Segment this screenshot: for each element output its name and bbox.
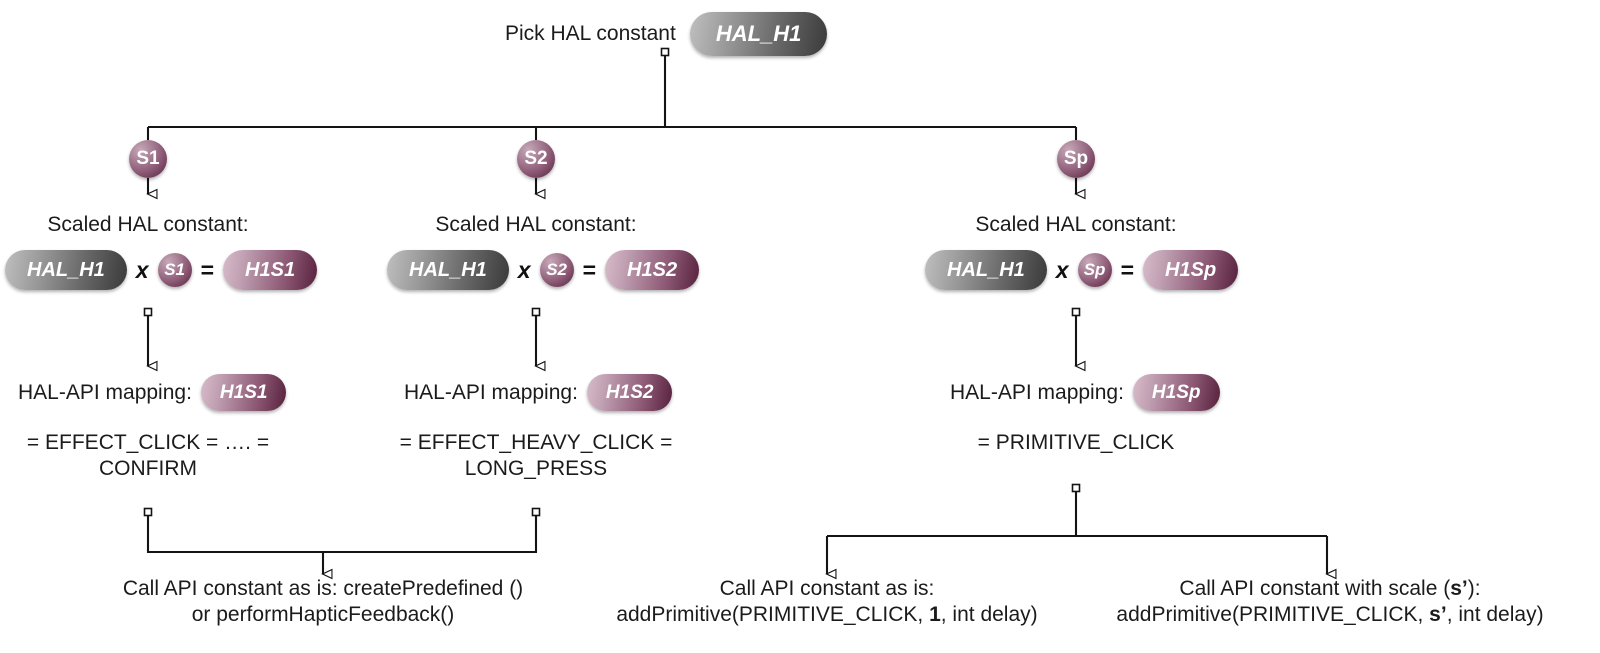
mapping-row-sp: HAL-API mapping: H1Sp xyxy=(950,374,1220,411)
mapping-equation-s2: = EFFECT_HEAVY_CLICK = LONG_PRESS xyxy=(388,430,684,482)
diagram-canvas: Pick HAL constant HAL_H1 S1 S2 Sp Scaled… xyxy=(0,0,1600,653)
multiply-op-s1: x xyxy=(136,257,149,284)
scaled-result-pill-sp[interactable]: H1Sp xyxy=(1143,250,1238,290)
wire-merge-left xyxy=(148,512,536,552)
mapping-pill-sp[interactable]: H1Sp xyxy=(1133,374,1220,411)
scaled-label-s2: Scaled HAL constant: xyxy=(388,212,684,238)
root-pill-hal-h1[interactable]: HAL_H1 xyxy=(690,12,828,56)
outcome-primitive-scaled-line1: Call API constant with scale (s’): xyxy=(1062,576,1598,602)
mapping-pill-s1[interactable]: H1S1 xyxy=(201,374,287,411)
mapping-row-s1: HAL-API mapping: H1S1 xyxy=(18,374,286,411)
scaled-label-s1: Scaled HAL constant: xyxy=(0,212,296,238)
outcome-predefined-line2: or performHapticFeedback() xyxy=(55,602,591,628)
outcome-primitive-scaled-scale-value: s’ xyxy=(1429,603,1447,626)
outcome-primitive-as-is-line2: addPrimitive(PRIMITIVE_CLICK, 1, int del… xyxy=(559,602,1095,628)
connector-layer xyxy=(0,0,1600,653)
scaled-result-pill-s2[interactable]: H1S2 xyxy=(605,250,699,290)
root-node: Pick HAL constant HAL_H1 xyxy=(505,12,827,56)
mapping-label-sp: HAL-API mapping: xyxy=(950,380,1124,406)
outcome-primitive-scaled-line1-post: ): xyxy=(1468,577,1481,600)
outcome-predefined: Call API constant as is: createPredefine… xyxy=(55,576,591,628)
outcome-primitive-scaled-line2-pre: addPrimitive(PRIMITIVE_CLICK, xyxy=(1116,603,1429,626)
outcome-primitive-as-is-line1: Call API constant as is: xyxy=(559,576,1095,602)
equals-op-sp: = xyxy=(1121,257,1134,284)
outcome-primitive-as-is-line2-pre: addPrimitive(PRIMITIVE_CLICK, xyxy=(616,603,929,626)
outcome-primitive-as-is-scale-value: 1 xyxy=(929,603,941,626)
multiply-op-s2: x xyxy=(518,257,531,284)
outcome-primitive-scaled-line2-post: , int delay) xyxy=(1447,603,1544,626)
connector-handle-map-sp xyxy=(1073,485,1080,492)
mapping-pill-s2[interactable]: H1S2 xyxy=(587,374,673,411)
scaled-label-sp: Scaled HAL constant: xyxy=(928,212,1224,238)
equals-op-s2: = xyxy=(583,257,596,284)
scaled-equation-s2: HAL_H1 x S2 = H1S2 xyxy=(387,250,699,290)
outcome-primitive-scaled-line2: addPrimitive(PRIMITIVE_CLICK, s’, int de… xyxy=(1062,602,1598,628)
connector-handle-scaled-s1 xyxy=(145,309,152,316)
connector-handle-scaled-sp xyxy=(1073,309,1080,316)
scaled-equation-s1: HAL_H1 x S1 = H1S1 xyxy=(5,250,317,290)
mapping-equation-sp: = PRIMITIVE_CLICK xyxy=(928,430,1224,456)
mapping-label-s2: HAL-API mapping: xyxy=(404,380,578,406)
connector-handle-map-s2 xyxy=(533,509,540,516)
scaled-base-pill-s2[interactable]: HAL_H1 xyxy=(387,250,509,290)
branch-circle-s2[interactable]: S2 xyxy=(517,140,555,178)
scaled-result-pill-s1[interactable]: H1S1 xyxy=(223,250,317,290)
outcome-primitive-scaled: Call API constant with scale (s’): addPr… xyxy=(1062,576,1598,628)
equals-op-s1: = xyxy=(201,257,214,284)
connector-handle-scaled-s2 xyxy=(533,309,540,316)
outcome-primitive-as-is: Call API constant as is: addPrimitive(PR… xyxy=(559,576,1095,628)
outcome-primitive-scaled-line1-pre: Call API constant with scale ( xyxy=(1179,577,1450,600)
outcome-predefined-line1: Call API constant as is: createPredefine… xyxy=(55,576,591,602)
scaled-base-pill-sp[interactable]: HAL_H1 xyxy=(925,250,1047,290)
scale-circle-s1[interactable]: S1 xyxy=(158,253,192,287)
scaled-base-pill-s1[interactable]: HAL_H1 xyxy=(5,250,127,290)
scale-circle-s2[interactable]: S2 xyxy=(540,253,574,287)
mapping-row-s2: HAL-API mapping: H1S2 xyxy=(404,374,672,411)
scaled-equation-sp: HAL_H1 x Sp = H1Sp xyxy=(925,250,1238,290)
mapping-equation-s1: = EFFECT_CLICK = …. = CONFIRM xyxy=(0,430,296,482)
multiply-op-sp: x xyxy=(1056,257,1069,284)
root-label: Pick HAL constant xyxy=(505,21,676,47)
outcome-primitive-scaled-line1-symbol: s’ xyxy=(1450,577,1468,600)
branch-circle-s1[interactable]: S1 xyxy=(129,140,167,178)
branch-circle-sp[interactable]: Sp xyxy=(1057,140,1095,178)
mapping-label-s1: HAL-API mapping: xyxy=(18,380,192,406)
connector-handle-map-s1 xyxy=(145,509,152,516)
scale-circle-sp[interactable]: Sp xyxy=(1078,253,1112,287)
outcome-primitive-as-is-line2-post: , int delay) xyxy=(941,603,1038,626)
